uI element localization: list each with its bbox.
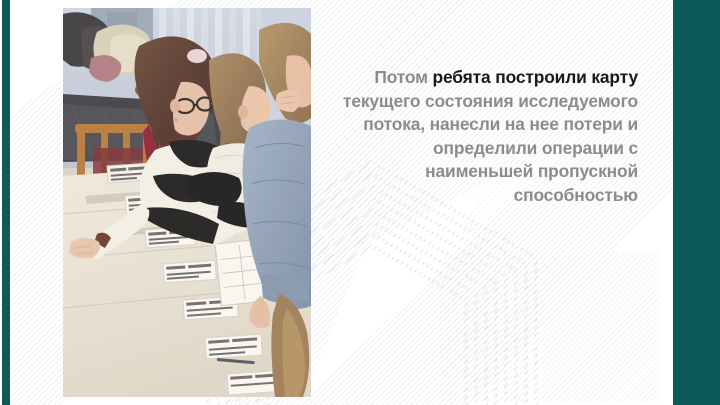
slide-photo — [63, 8, 311, 397]
right-accent-panel — [673, 0, 720, 405]
presentation-slide: Потом ребята построили карту текущего со… — [0, 0, 720, 405]
slide-body-text: Потом ребята построили карту текущего со… — [330, 66, 638, 208]
body-text-highlight-1: ребята построили — [433, 67, 587, 87]
body-text-part-6: пропускной способностью — [514, 161, 638, 205]
left-accent-bar — [2, 0, 10, 405]
body-text-part-2: текущего состояния — [343, 91, 514, 111]
body-text-highlight-2: карту — [591, 67, 638, 87]
body-text-part-1: Потом — [374, 67, 432, 87]
